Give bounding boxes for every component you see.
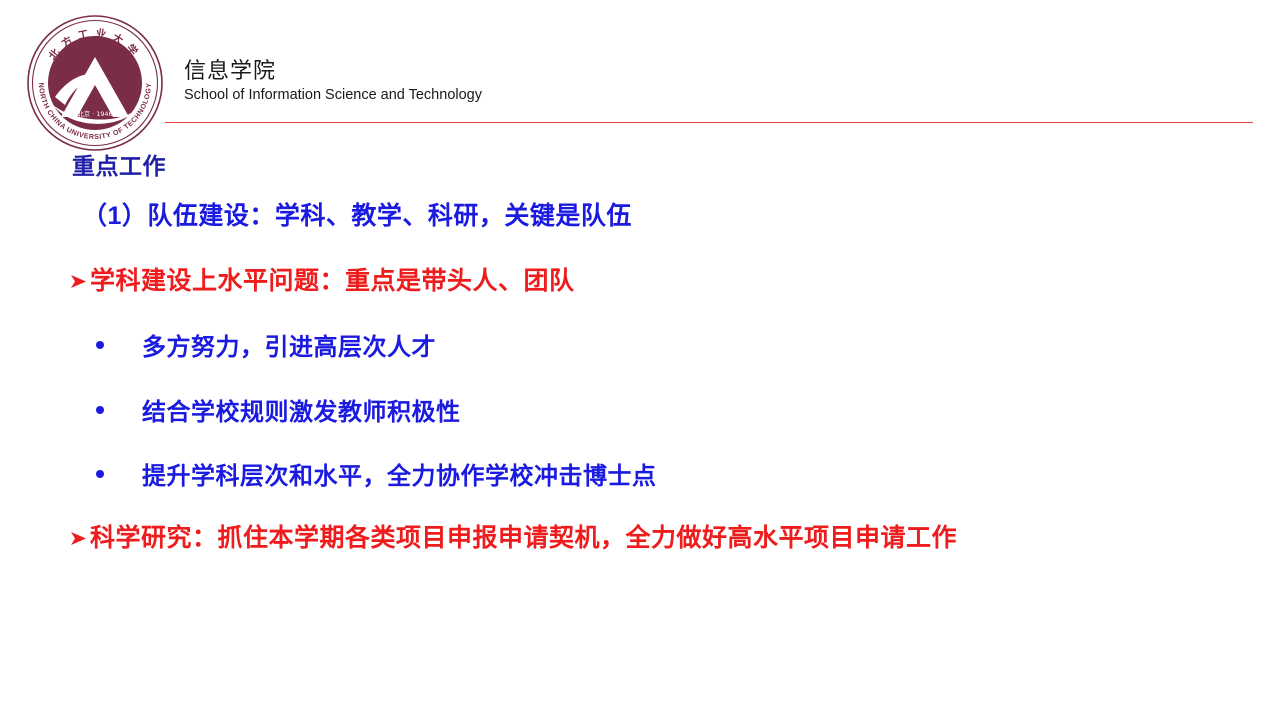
list-item-label: 结合学校规则激发教师积极性 xyxy=(142,392,461,427)
slide-header: 北方工业大学 NORTH CHINA UNIVERSITY OF TECHNOL… xyxy=(0,0,1280,135)
list-item-label: 多方努力，引进高层次人才 xyxy=(142,327,436,362)
arrow-bullet-icon xyxy=(70,268,90,289)
dot-bullet-icon xyxy=(96,406,104,414)
university-logo-icon: 北方工业大学 NORTH CHINA UNIVERSITY OF TECHNOL… xyxy=(25,13,165,153)
dot-bullet-icon xyxy=(96,341,104,349)
organization-name-en: School of Information Science and Techno… xyxy=(184,86,482,105)
arrow-bullet-icon xyxy=(70,525,90,546)
arrow-item-2: 科学研究：抓住本学期各类项目申报申请契机，全力做好高水平项目申请工作 xyxy=(70,518,957,554)
list-item: 结合学校规则激发教师积极性 xyxy=(96,392,461,427)
header-title-block: 信息学院 School of Information Science and T… xyxy=(184,58,482,105)
list-item: 提升学科层次和水平，全力协作学校冲击博士点 xyxy=(96,456,657,491)
arrow-item-2-label: 科学研究：抓住本学期各类项目申报申请契机，全力做好高水平项目申请工作 xyxy=(90,518,957,554)
dot-bullet-icon xyxy=(96,470,104,478)
organization-name-cn: 信息学院 xyxy=(184,58,482,84)
list-item: 多方努力，引进高层次人才 xyxy=(96,327,436,362)
arrow-item-1-label: 学科建设上水平问题：重点是带头人、团队 xyxy=(90,261,575,297)
numbered-item-1: （1）队伍建设：学科、教学、科研，关键是队伍 xyxy=(82,196,632,232)
header-divider xyxy=(165,122,1253,123)
page-title: 重点工作 xyxy=(72,147,166,181)
arrow-item-1: 学科建设上水平问题：重点是带头人、团队 xyxy=(70,261,575,297)
svg-text:北京 · 1946: 北京 · 1946 xyxy=(77,109,112,118)
list-item-label: 提升学科层次和水平，全力协作学校冲击博士点 xyxy=(142,456,657,491)
slide-body: 重点工作 （1）队伍建设：学科、教学、科研，关键是队伍 学科建设上水平问题：重点… xyxy=(0,135,1280,720)
